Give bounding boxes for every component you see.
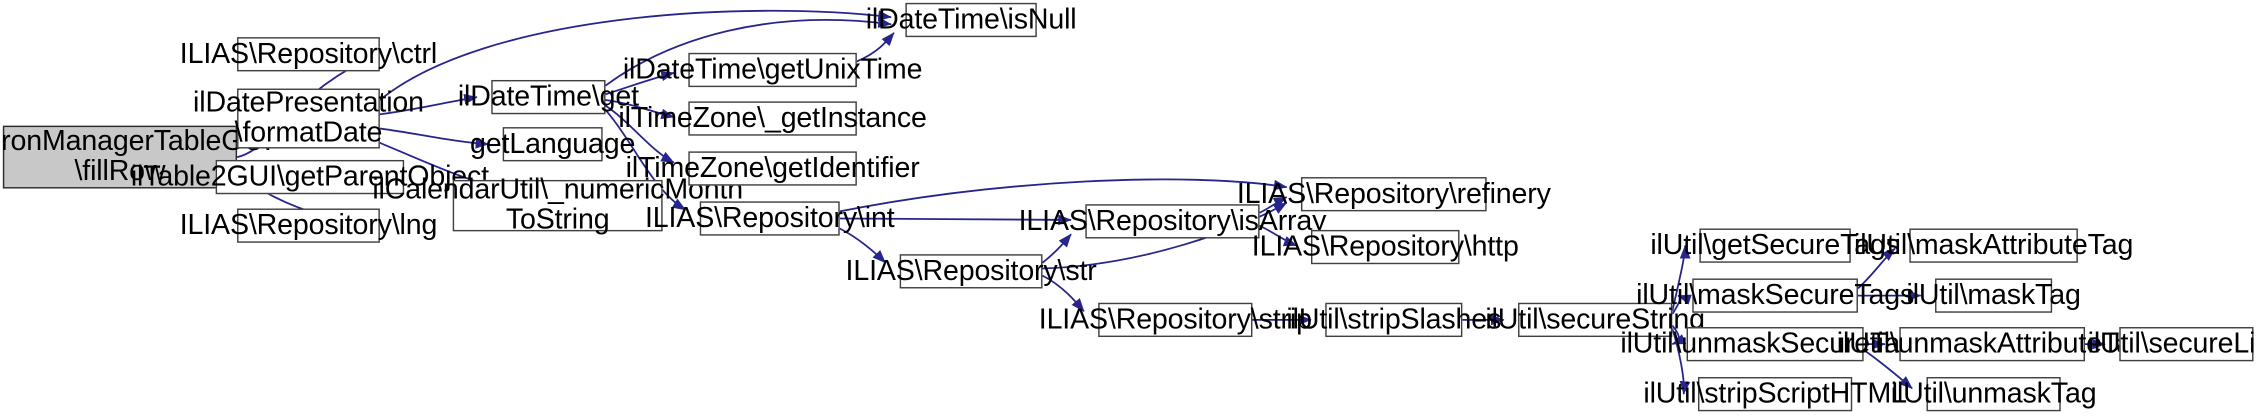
graph-node-n15[interactable]: ILIAS\Repository\isArray: [1085, 204, 1259, 238]
graph-node-n8[interactable]: ilDateTime\isNull: [905, 3, 1036, 37]
graph-scale-wrapper: ilCronManagerTableGUI \fillRowILIAS\Repo…: [0, 0, 2254, 417]
graph-node-n25[interactable]: ilUtil\maskTag: [1935, 278, 2052, 312]
graph-node-n28[interactable]: ilUtil\secureLink: [2119, 327, 2253, 361]
graph-node-n26[interactable]: ilUtil\unmaskAttributeTag: [1899, 327, 2085, 361]
graph-node-n11[interactable]: ilTimeZone\getIdentifier: [688, 151, 857, 185]
call-graph-canvas: ilCronManagerTableGUI \fillRowILIAS\Repo…: [0, 0, 2256, 417]
graph-node-n27[interactable]: ilUtil\unmaskTag: [1926, 377, 2060, 411]
graph-node-n2[interactable]: ilDatePresentation \formatDate: [237, 89, 380, 149]
graph-node-n24[interactable]: ilUtil\maskAttributeTag: [1909, 228, 2078, 262]
graph-node-n16[interactable]: ILIAS\Repository\refinery: [1301, 177, 1487, 211]
graph-node-n6[interactable]: getLanguage: [503, 127, 603, 161]
graph-node-n13[interactable]: ILIAS\Repository\str: [900, 254, 1043, 288]
graph-node-n17[interactable]: ILIAS\Repository\http: [1311, 230, 1460, 264]
graph-node-n5[interactable]: ilDateTime\get: [491, 80, 605, 114]
graph-node-n12[interactable]: ILIAS\Repository\int: [700, 201, 840, 235]
graph-node-n14[interactable]: ILIAS\Repository\strip: [1098, 303, 1252, 337]
graph-node-n9[interactable]: ilDateTime\getUnixTime: [688, 53, 857, 87]
graph-node-n1[interactable]: ILIAS\Repository\ctrl: [237, 37, 380, 71]
graph-node-n20[interactable]: ilUtil\getSecureTags: [1699, 228, 1850, 262]
graph-node-n23[interactable]: ilUtil\stripScriptHTML: [1698, 377, 1852, 411]
graph-node-n7[interactable]: ilCalendarUtil\_numericMonth ToString: [453, 180, 663, 231]
graph-node-n18[interactable]: ilUtil\stripSlashes: [1325, 303, 1462, 337]
graph-node-n21[interactable]: ilUtil\maskSecureTags: [1692, 278, 1858, 312]
graph-node-n10[interactable]: ilTimeZone\_getInstance: [688, 101, 857, 135]
graph-node-n4[interactable]: ILIAS\Repository\lng: [237, 209, 380, 243]
